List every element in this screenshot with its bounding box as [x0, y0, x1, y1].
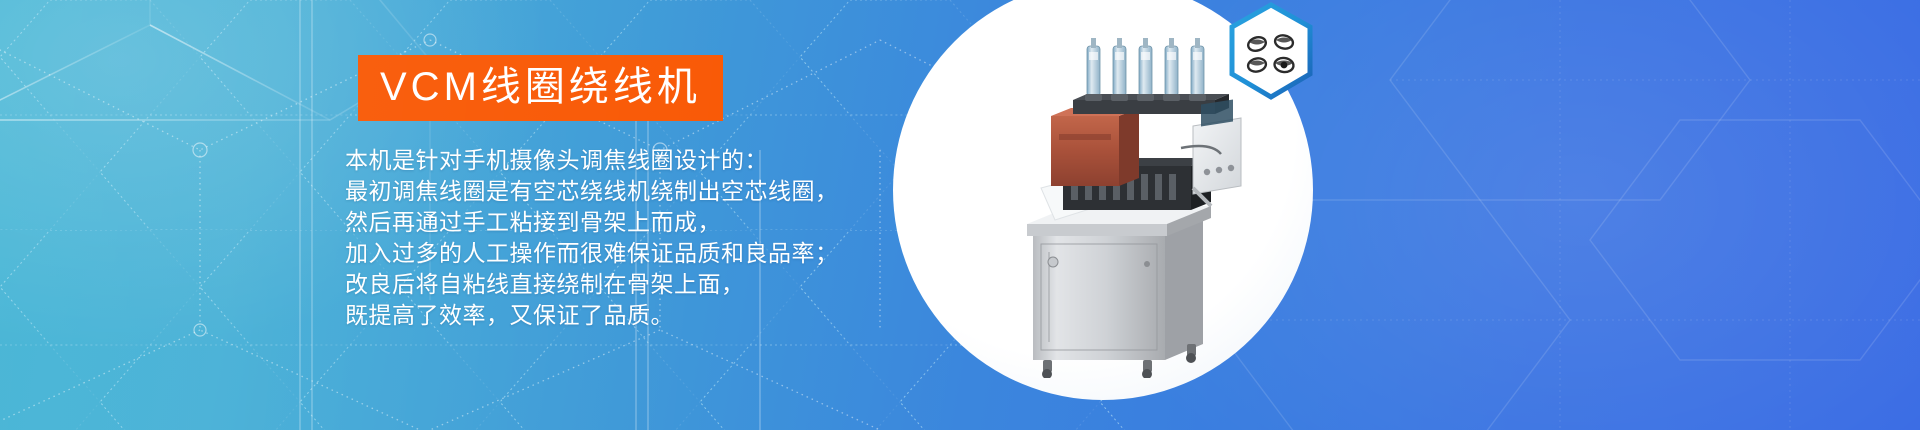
description-line: 然后再通过手工粘接到骨架上而成，	[345, 207, 905, 238]
page-title: VCM线圈绕线机	[380, 67, 701, 107]
description-line: 加入过多的人工操作而很难保证品质和良品率；	[345, 238, 905, 269]
promo-banner: VCM线圈绕线机 本机是针对手机摄像头调焦线圈设计的： 最初调焦线圈是有空芯绕线…	[0, 0, 1920, 430]
machine-icon	[1015, 38, 1245, 378]
hexagon-icon	[1232, 5, 1310, 97]
title-badge: VCM线圈绕线机	[358, 55, 723, 121]
banner-content: VCM线圈绕线机 本机是针对手机摄像头调焦线圈设计的： 最初调焦线圈是有空芯绕线…	[345, 55, 905, 331]
description-line: 本机是针对手机摄像头调焦线圈设计的：	[345, 145, 905, 176]
coil-products-hexagon-badge	[1226, 2, 1316, 102]
description-line: 改良后将自粘线直接绕制在骨架上面，	[345, 269, 905, 300]
description-block: 本机是针对手机摄像头调焦线圈设计的： 最初调焦线圈是有空芯绕线机绕制出空芯线圈，…	[345, 145, 905, 331]
product-showcase	[893, 0, 1363, 430]
description-line: 最初调焦线圈是有空芯绕线机绕制出空芯线圈，	[345, 176, 905, 207]
description-line: 既提高了效率，又保证了品质。	[345, 300, 905, 331]
